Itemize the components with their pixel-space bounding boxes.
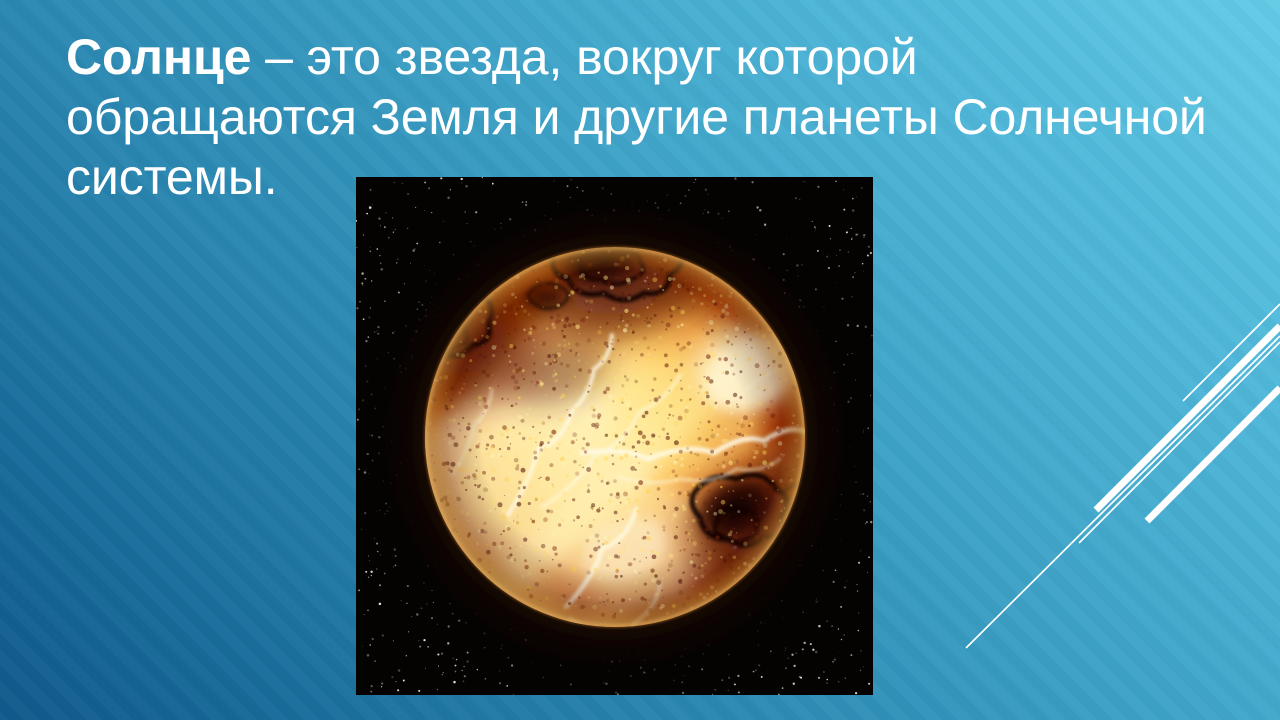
line-thin-1: [1183, 304, 1280, 401]
slide: Солнце – это звезда, вокруг которой обра…: [0, 0, 1280, 720]
line-thick-2: [1147, 388, 1280, 521]
line-thick-1: [1096, 326, 1280, 510]
title-keyword: Солнце: [66, 29, 251, 85]
line-thin-2: [1079, 342, 1280, 543]
sun-illustration: [356, 177, 873, 695]
sun-image: [356, 177, 873, 695]
line-thin-3: [966, 336, 1280, 648]
